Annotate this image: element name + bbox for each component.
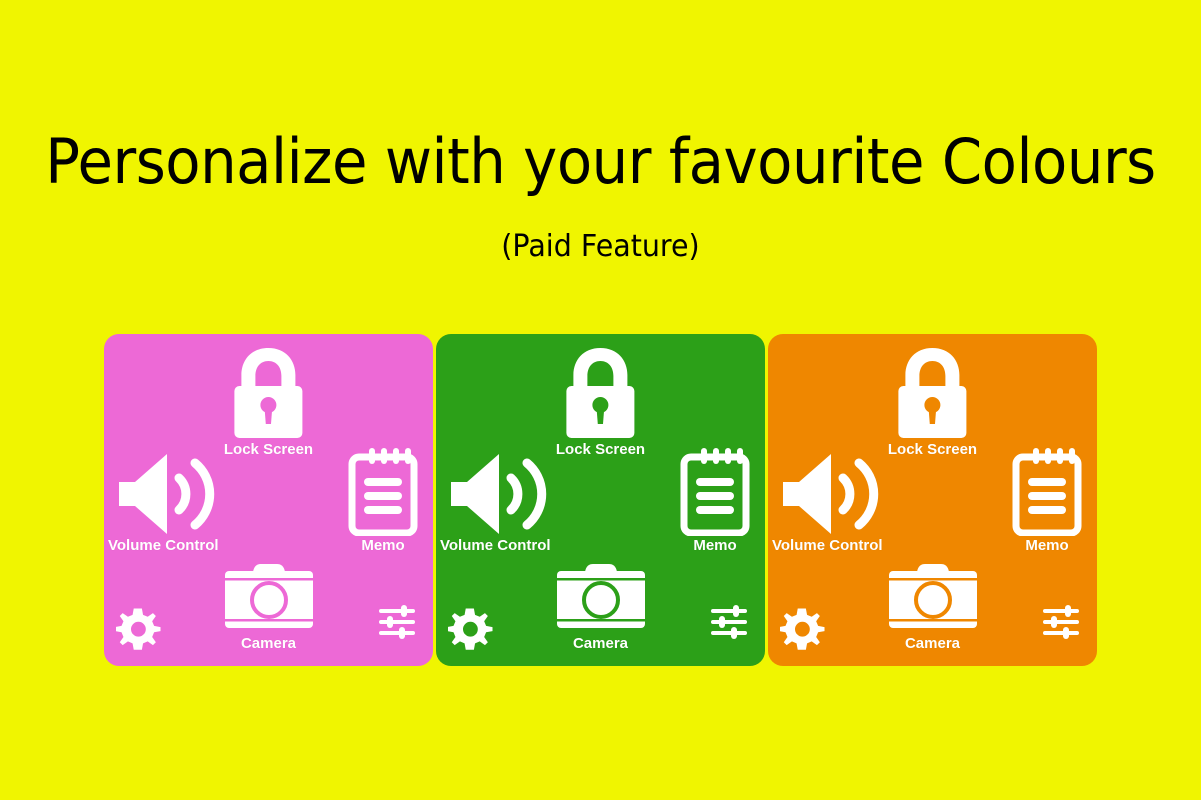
memo-label: Memo: [693, 537, 736, 555]
lock-screen-label: Lock Screen: [224, 441, 313, 459]
speaker-volume-icon: [109, 452, 217, 536]
volume-control-tile[interactable]: Volume Control: [440, 452, 551, 555]
lock-screen-label: Lock Screen: [888, 441, 977, 459]
promo-banner: Personalize with your favourite Colours …: [0, 0, 1201, 800]
sliders-icon[interactable]: [377, 602, 417, 642]
gear-icon[interactable]: [448, 606, 494, 652]
notepad-memo-icon: [1011, 446, 1083, 536]
notepad-memo-icon: [679, 446, 751, 536]
notepad-memo-icon: [347, 446, 419, 536]
lock-screen-label: Lock Screen: [556, 441, 645, 459]
sliders-icon[interactable]: [709, 602, 749, 642]
theme-card-orange[interactable]: Lock Screen Volume Control: [768, 334, 1097, 666]
page-title: Personalize with your favourite Colours: [42, 124, 1159, 200]
camera-label: Camera: [905, 635, 960, 653]
camera-tile[interactable]: Camera: [223, 562, 315, 653]
volume-control-label: Volume Control: [440, 537, 551, 555]
volume-control-label: Volume Control: [108, 537, 219, 555]
page-subtitle: (Paid Feature): [30, 227, 1171, 267]
memo-label: Memo: [1025, 537, 1068, 555]
speaker-volume-icon: [773, 452, 881, 536]
volume-control-tile[interactable]: Volume Control: [108, 452, 219, 555]
lock-icon: [890, 344, 976, 440]
volume-control-tile[interactable]: Volume Control: [772, 452, 883, 555]
lock-screen-tile[interactable]: Lock Screen: [888, 344, 977, 459]
theme-card-green[interactable]: Lock Screen Volume Control: [436, 334, 765, 666]
volume-control-label: Volume Control: [772, 537, 883, 555]
camera-label: Camera: [241, 635, 296, 653]
memo-tile[interactable]: Memo: [347, 446, 419, 555]
lock-screen-tile[interactable]: Lock Screen: [224, 344, 313, 459]
camera-icon: [223, 562, 315, 634]
lock-icon: [226, 344, 312, 440]
camera-icon: [887, 562, 979, 634]
lock-screen-tile[interactable]: Lock Screen: [556, 344, 645, 459]
gear-icon[interactable]: [780, 606, 826, 652]
speaker-volume-icon: [441, 452, 549, 536]
sliders-icon[interactable]: [1041, 602, 1081, 642]
theme-card-pink[interactable]: Lock Screen Volume Control: [104, 334, 433, 666]
theme-card-row: Lock Screen Volume Control: [104, 334, 1096, 666]
camera-tile[interactable]: Camera: [555, 562, 647, 653]
gear-icon[interactable]: [116, 606, 162, 652]
lock-icon: [558, 344, 644, 440]
memo-tile[interactable]: Memo: [1011, 446, 1083, 555]
camera-icon: [555, 562, 647, 634]
camera-tile[interactable]: Camera: [887, 562, 979, 653]
memo-label: Memo: [361, 537, 404, 555]
camera-label: Camera: [573, 635, 628, 653]
memo-tile[interactable]: Memo: [679, 446, 751, 555]
